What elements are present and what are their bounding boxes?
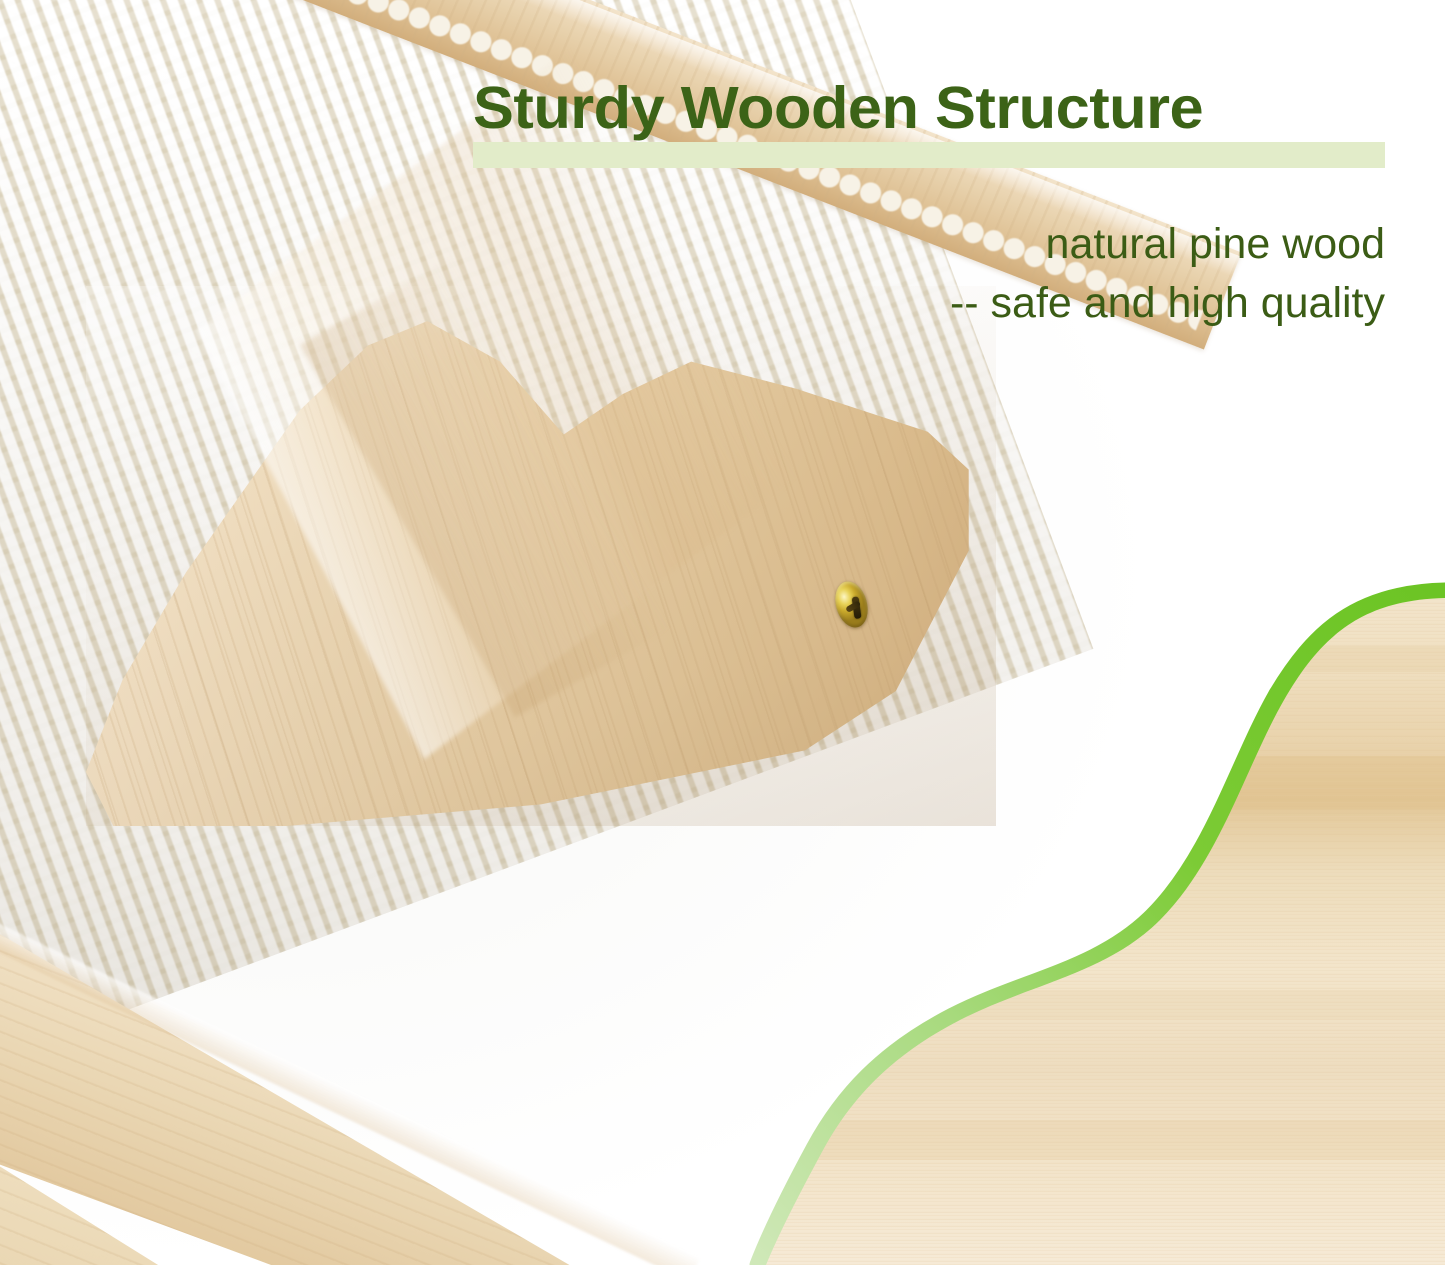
subtitle-line-2: -- safe and high quality [560,274,1385,333]
text-overlay: Sturdy Wooden Structure natural pine woo… [0,0,1445,1265]
subtitle-line-1: natural pine wood [560,215,1385,274]
subtitle-block: natural pine wood -- safe and high quali… [560,215,1385,334]
page-title: Sturdy Wooden Structure [473,78,1425,138]
product-feature-banner: Sturdy Wooden Structure natural pine woo… [0,0,1445,1265]
title-underline-bar [473,142,1385,168]
